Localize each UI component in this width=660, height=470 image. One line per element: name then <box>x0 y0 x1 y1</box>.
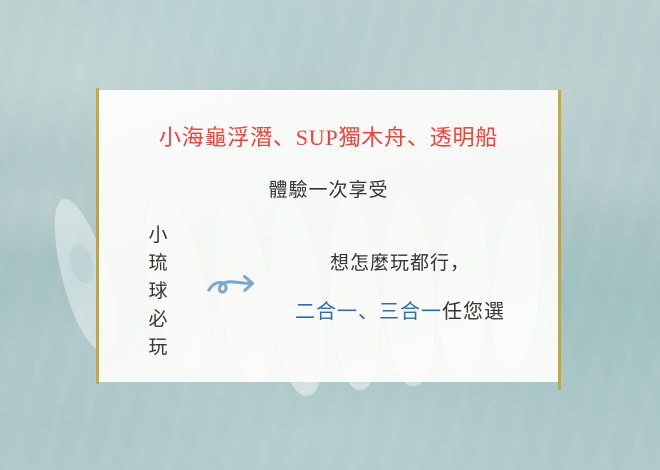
body-line-2-rest: 任您選 <box>442 301 505 323</box>
vertical-tagline-char: 小 <box>143 222 173 250</box>
body-line-2: 二合一、三合一任您選 <box>240 295 560 324</box>
body-line-2-highlight: 二合一、三合一 <box>295 301 442 323</box>
vertical-tagline: 小 琉 球 必 玩 <box>143 222 173 362</box>
vertical-tagline-char: 球 <box>143 278 173 306</box>
vertical-tagline-char: 琉 <box>143 250 173 278</box>
body-line-1: 想怎麼玩都行， <box>240 248 560 275</box>
vertical-tagline-char: 玩 <box>143 334 173 362</box>
poster-canvas: 小海龜浮潛、SUP獨木舟、透明船 體驗一次享受 小 琉 球 必 玩 想怎麼玩都行… <box>0 0 660 470</box>
poster-subtitle: 體驗一次享受 <box>97 175 560 202</box>
vertical-tagline-char: 必 <box>143 306 173 334</box>
poster-title: 小海龜浮潛、SUP獨木舟、透明船 <box>97 120 560 152</box>
